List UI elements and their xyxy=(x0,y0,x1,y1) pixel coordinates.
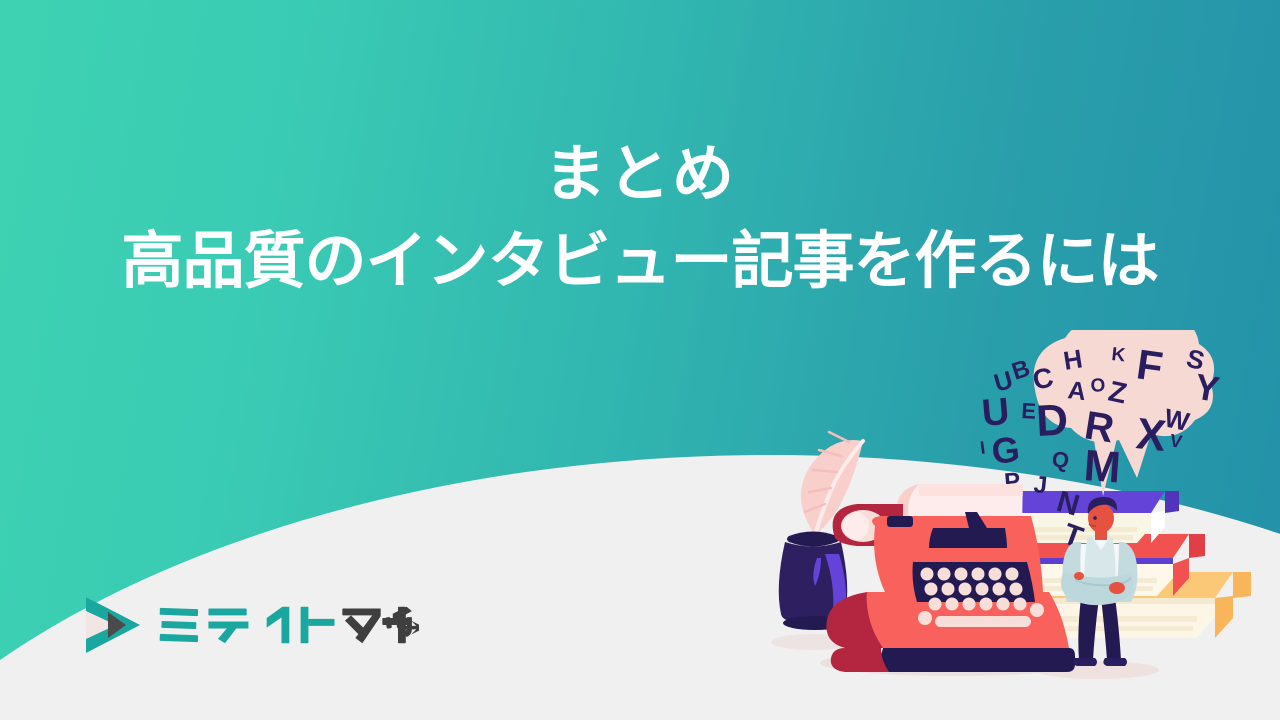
svg-text:K: K xyxy=(1110,344,1126,366)
title-line-2: 高品質のインタビュー記事を作るには xyxy=(0,225,1280,298)
slide-root: まとめ 高品質のインタビュー記事を作るには xyxy=(0,0,1280,720)
svg-text:J: J xyxy=(1032,471,1048,499)
keyboard-plate xyxy=(913,562,1036,602)
hero-illustration: K H F S C A O Z Y U B U E D R X W xyxy=(745,330,1280,720)
svg-text:Q: Q xyxy=(1050,446,1070,473)
brand-logo[interactable] xyxy=(82,594,419,656)
logo-wordmark-svg xyxy=(158,605,419,645)
svg-text:X: X xyxy=(1134,409,1168,461)
svg-text:O: O xyxy=(1090,375,1106,397)
title-line-1: まとめ xyxy=(0,138,1280,211)
svg-text:M: M xyxy=(1082,441,1122,492)
svg-text:D: D xyxy=(1035,395,1069,446)
logo-wordmark xyxy=(158,605,419,645)
illustration-svg: K H F S C A O Z Y U B U E D R X W xyxy=(745,330,1280,720)
person-hand xyxy=(1109,582,1125,594)
typewriter-base xyxy=(879,648,1075,672)
svg-text:I: I xyxy=(979,437,987,458)
play-arrow-chevron-icon xyxy=(82,594,144,656)
svg-text:A: A xyxy=(1066,376,1087,406)
svg-text:U: U xyxy=(980,391,1011,435)
page-title: まとめ 高品質のインタビュー記事を作るには xyxy=(0,138,1280,298)
svg-text:V: V xyxy=(1168,430,1183,452)
svg-text:G: G xyxy=(990,428,1022,472)
typewriter-lever xyxy=(887,516,913,527)
